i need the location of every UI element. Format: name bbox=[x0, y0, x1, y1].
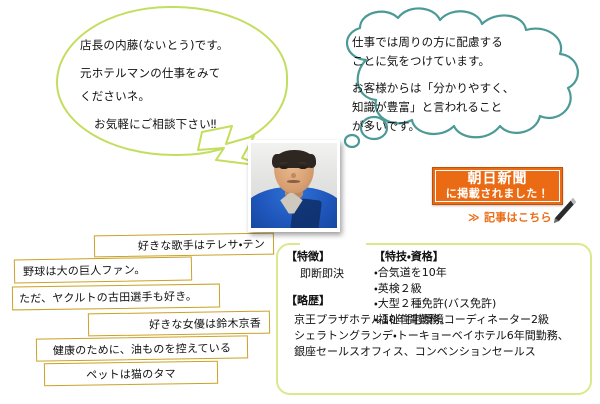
pen-icon bbox=[548, 196, 578, 226]
note-text: ただ、ヤクルトの古田選手も好き。 bbox=[19, 288, 197, 306]
list-item: 野球は大の巨人ファン。 bbox=[14, 256, 192, 283]
history-line: シェラトングランデ・トーキョーベイホテル6年間勤務、 bbox=[294, 328, 592, 344]
photo-mouth bbox=[287, 180, 300, 183]
panel-heading-row: 【特徴】 【特技・資格】 bbox=[286, 250, 592, 265]
list-item: ただ、ヤクルトの古田選手も好き。 bbox=[12, 284, 220, 311]
list-item: 好きな歌手はテレサ・テン bbox=[94, 233, 274, 258]
photo-sideburn-left bbox=[272, 154, 281, 168]
skill-item: ・英検２級 bbox=[374, 281, 549, 297]
note-text: ペットは猫のタマ bbox=[86, 365, 176, 382]
feature-heading: 【特徴】 bbox=[286, 250, 374, 265]
profile-info-content: 【特徴】 【特技・資格】 即断即決 ・合気道を10年 ・英検２級 ・大型２種免許… bbox=[286, 250, 592, 359]
skill-item: ・合気道を10年 bbox=[374, 265, 549, 281]
skills-heading: 【特技・資格】 bbox=[374, 250, 444, 265]
note-text: 好きな女優は鈴木京香 bbox=[149, 314, 261, 332]
asahi-shimbun-badge-inner: 朝日新聞 に掲載されました！ bbox=[435, 170, 560, 202]
panel-top-notch bbox=[300, 238, 366, 248]
bubble-right-p2-line-1: お客様からは「分かりやすく、 bbox=[352, 79, 572, 98]
facts-note-list: 好きな歌手はテレサ・テン 野球は大の巨人ファン。 ただ、ヤクルトの古田選手も好き… bbox=[0, 232, 292, 400]
bubble-left-line-3: くださいネ。 bbox=[80, 85, 280, 107]
manager-photo-image bbox=[251, 143, 337, 228]
bubble-left-line-2: 元ホテルマンの仕事をみて bbox=[80, 62, 280, 84]
bubble-right-p1-line-2: ことに気をつけています。 bbox=[352, 52, 572, 71]
asahi-shimbun-subtitle: に掲載されました！ bbox=[446, 187, 550, 200]
history-line: 銀座セールスオフィス、コンベンションセールス bbox=[294, 344, 592, 360]
bubble-left-line-4: お気軽にご相談下さい‼ bbox=[80, 113, 280, 135]
list-item: 健康のために、油ものを控えている bbox=[36, 335, 248, 361]
note-text: 好きな歌手はテレサ・テン bbox=[138, 236, 265, 254]
paragraph-spacer bbox=[352, 70, 572, 79]
manager-photo bbox=[248, 140, 340, 232]
bubble-right-p2-line-2: 知識が豊富」と言われること bbox=[352, 98, 572, 117]
skill-item: ・大型２種免許(バス免許) bbox=[374, 296, 549, 312]
list-item: ペットは猫のタマ bbox=[44, 361, 218, 386]
list-item: 好きな女優は鈴木京香 bbox=[88, 311, 270, 337]
skills-list: ・合気道を10年 ・英検２級 ・大型２種免許(バス免許) ・福祉住宅環境コーディ… bbox=[374, 265, 549, 327]
photo-nose bbox=[291, 173, 295, 178]
asahi-shimbun-badge[interactable]: 朝日新聞 に掲載されました！ bbox=[432, 167, 563, 205]
bubble-right-p2-line-3: が多いです。 bbox=[352, 117, 572, 136]
photo-eye-left bbox=[280, 166, 288, 169]
profile-page: 店長の内藤(ないとう)です。 元ホテルマンの仕事をみて くださいネ。 お気軽にご… bbox=[0, 0, 600, 404]
note-text: 健康のために、油ものを控えている bbox=[53, 339, 232, 358]
photo-sideburn-right bbox=[307, 154, 316, 168]
bubble-right-p1-line-1: 仕事では周りの方に配慮する bbox=[352, 33, 572, 52]
skill-item: ・福祉住宅環境コーディネーター2級 bbox=[374, 312, 549, 328]
note-text: 野球は大の巨人ファン。 bbox=[23, 261, 146, 279]
bubble-left-line-1: 店長の内藤(ないとう)です。 bbox=[80, 34, 280, 56]
asahi-shimbun-title: 朝日新聞 bbox=[468, 172, 528, 187]
article-link[interactable]: ≫ 記事はこちら bbox=[468, 209, 552, 225]
speech-bubble-left-text: 店長の内藤(ないとう)です。 元ホテルマンの仕事をみて くださいネ。 お気軽にご… bbox=[80, 34, 280, 136]
photo-eye-right bbox=[299, 166, 307, 169]
thought-bubble-right-text: 仕事では周りの方に配慮する ことに気をつけています。 お客様からは「分かりやすく… bbox=[352, 33, 572, 135]
